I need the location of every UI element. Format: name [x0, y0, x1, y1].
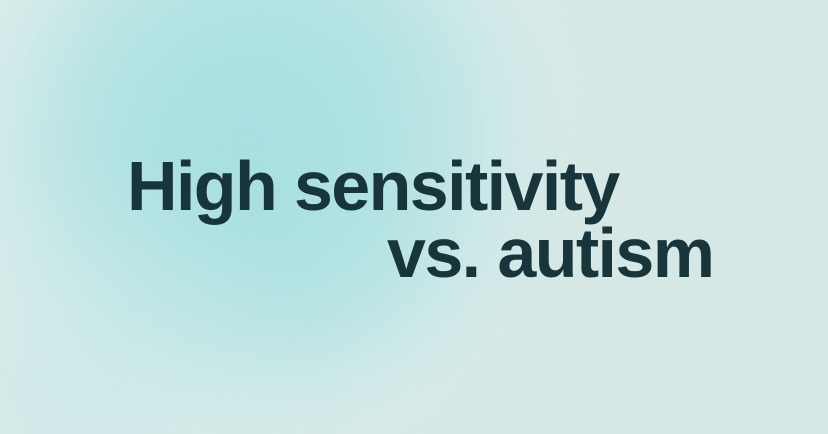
headline-block: High sensitivity vs. autism — [0, 0, 828, 434]
title-card: High sensitivity vs. autism — [0, 0, 828, 434]
headline-line-two: vs. autism — [387, 218, 713, 288]
headline-line-one: High sensitivity — [127, 151, 619, 221]
